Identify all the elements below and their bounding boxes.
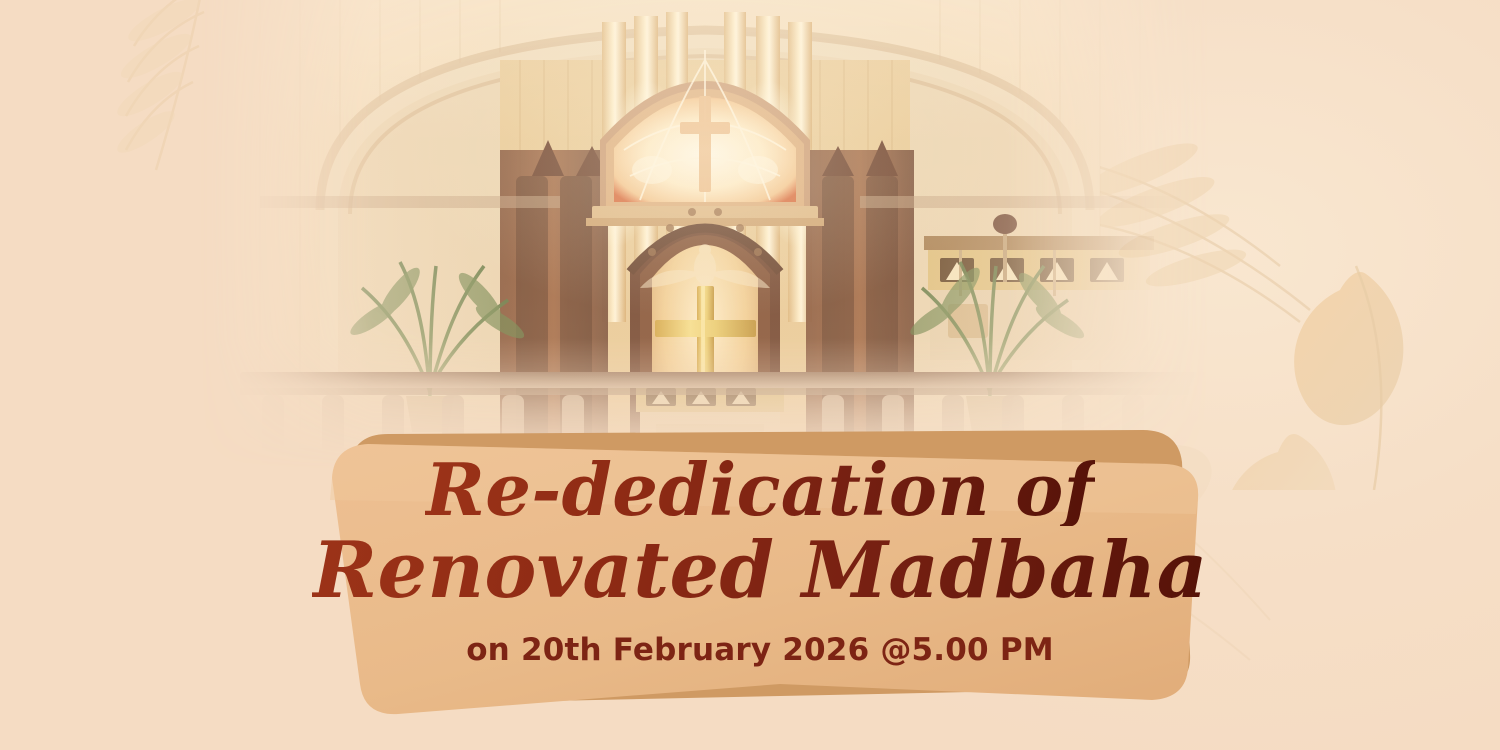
sanctuary-photo [200, 0, 1210, 470]
event-poster: Re-dedication of Renovated Madbaha on 20… [0, 0, 1500, 750]
title-line-1: Re-dedication of [425, 454, 1095, 526]
event-datetime: on 20th February 2026 @5.00 PM [466, 632, 1054, 668]
title-line-2: Renovated Madbaha [312, 532, 1207, 610]
announcement-banner: Re-dedication of Renovated Madbaha on 20… [310, 418, 1210, 738]
banner-text-block: Re-dedication of Renovated Madbaha on 20… [310, 418, 1210, 738]
